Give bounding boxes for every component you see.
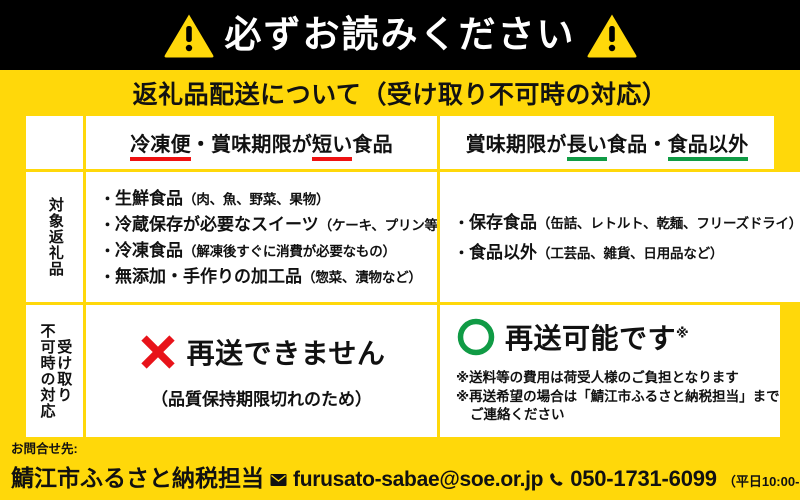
resend-not-possible-headline: 再送できません [187,332,386,372]
phone-icon [549,472,564,486]
contact-hours: （平日10:00-17:00対応） [723,471,800,490]
header-bar: 必ずお読みください [0,0,800,70]
col-right-middle: 食品・ [607,134,668,156]
col-left-suffix: 食品 [352,134,392,156]
resend-possible-cell: 再送可能です※ ※送料等の費用は荷受人様のご負担となります ※再送希望の場合は「… [437,305,780,437]
list-item-main: 無添加・手作りの加工品 [115,267,302,286]
list-item-main: 冷蔵保存が必要なスイーツ [115,215,319,234]
table-row: 不可時の対応 受け取り 再送できません （品質保持期限切れのため） [26,302,774,437]
list-item-paren: （ケーキ、プリン等） [319,218,451,233]
resend-not-possible-cell: 再送できません （品質保持期限切れのため） [83,305,437,437]
column-header-right: 賞味期限が長い食品・食品以外 [437,116,774,169]
corner-cell [26,116,83,169]
subtitle-banner: 返礼品配送について（受け取り不可時の対応） [0,70,800,116]
row-label-undeliverable: 不可時の対応 受け取り [26,305,83,437]
col-left-underline-1: 冷凍便 [130,134,191,161]
row-label-text-col-b: 不可時の対応 [38,323,55,419]
page-title: 必ずお読みください [225,16,576,53]
list-item-paren: （工芸品、雑貨、日用品など） [537,246,723,261]
list-item-paren: （惣菜、漬物など） [302,270,422,285]
envelope-icon [270,473,287,487]
circle-mark-icon [456,317,496,357]
x-mark-icon [138,332,178,372]
contact-label: お問合せ先: [11,442,800,457]
subtitle-text: 返礼品配送について（受け取り不可時の対応） [133,75,668,111]
col-right-underline-2: 食品以外 [668,134,749,161]
table-header-row: 冷凍便・賞味期限が短い食品 賞味期限が長い食品・食品以外 [26,116,774,169]
col-left-underline-2: 短い [312,134,352,161]
notice-page: 必ずお読みください 返礼品配送について（受け取り不可時の対応） 冷凍便・賞味期限… [0,0,800,500]
row-label-target-items: 対象返礼品 [26,172,83,302]
list-item: ・冷凍食品（解凍後すぐに消費が必要なもの） [100,242,427,259]
col-left-middle: ・賞味期限が [191,134,312,156]
contact-email[interactable]: furusato-sabae@soe.or.jp [293,468,543,492]
list-item: ・保存食品（缶詰、レトルト、乾麺、フリーズドライ） [454,214,800,231]
warning-triangle-icon [163,12,215,58]
list-item-paren: （解凍後すぐに消費が必要なもの） [183,244,396,259]
note-line: ※再送希望の場合は「鯖江市ふるさと納税担当」まで [456,388,780,407]
warning-triangle-icon [586,12,638,58]
list-item-main: 食品以外 [469,243,537,262]
column-header-left: 冷凍便・賞味期限が短い食品 [83,116,437,169]
table-row: 対象返礼品 ・生鮮食品（肉、魚、野菜、果物） ・冷蔵保存が必要なスイーツ（ケーキ… [26,169,774,302]
col-right-prefix: 賞味期限が [466,134,567,156]
note-line: ※送料等の費用は荷受人様のご負担となります [456,369,780,388]
list-item: ・生鮮食品（肉、魚、野菜、果物） [100,190,427,207]
resend-not-possible-reason: （品質保持期限切れのため） [151,385,372,410]
list-item: ・食品以外（工芸品、雑貨、日用品など） [454,244,800,261]
contact-department: 鯖江市ふるさと納税担当 [11,459,264,493]
col-right-underline-1: 長い [567,134,607,161]
list-item-paren: （肉、魚、野菜、果物） [183,192,329,207]
target-items-right-cell: ・保存食品（缶詰、レトルト、乾麺、フリーズドライ） ・食品以外（工芸品、雑貨、日… [437,172,800,302]
list-item: ・無添加・手作りの加工品（惣菜、漬物など） [100,268,427,285]
resend-notes: ※送料等の費用は荷受人様のご負担となります ※再送希望の場合は「鯖江市ふるさと納… [456,369,780,425]
contact-footer: お問合せ先: 鯖江市ふるさと納税担当 furusato-sabae@soe.or… [0,437,800,500]
list-item: ・冷蔵保存が必要なスイーツ（ケーキ、プリン等） [100,216,427,233]
note-line: ご連絡ください [456,406,780,425]
list-item-paren: （缶詰、レトルト、乾麺、フリーズドライ） [537,216,800,231]
contact-phone[interactable]: 050-1731-6099 [570,466,717,492]
row-label-text: 対象返礼品 [46,197,63,277]
asterisk-mark: ※ [676,326,689,341]
list-item-main: 生鮮食品 [115,189,183,208]
resend-possible-headline: 再送可能です [505,323,676,354]
list-item-main: 冷凍食品 [115,241,183,260]
target-items-left-cell: ・生鮮食品（肉、魚、野菜、果物） ・冷蔵保存が必要なスイーツ（ケーキ、プリン等）… [83,172,437,302]
list-item-main: 保存食品 [469,213,537,232]
row-label-text-col-a: 受け取り [55,323,72,419]
info-table: 冷凍便・賞味期限が短い食品 賞味期限が長い食品・食品以外 対象返礼品 ・生鮮食品… [26,116,774,437]
